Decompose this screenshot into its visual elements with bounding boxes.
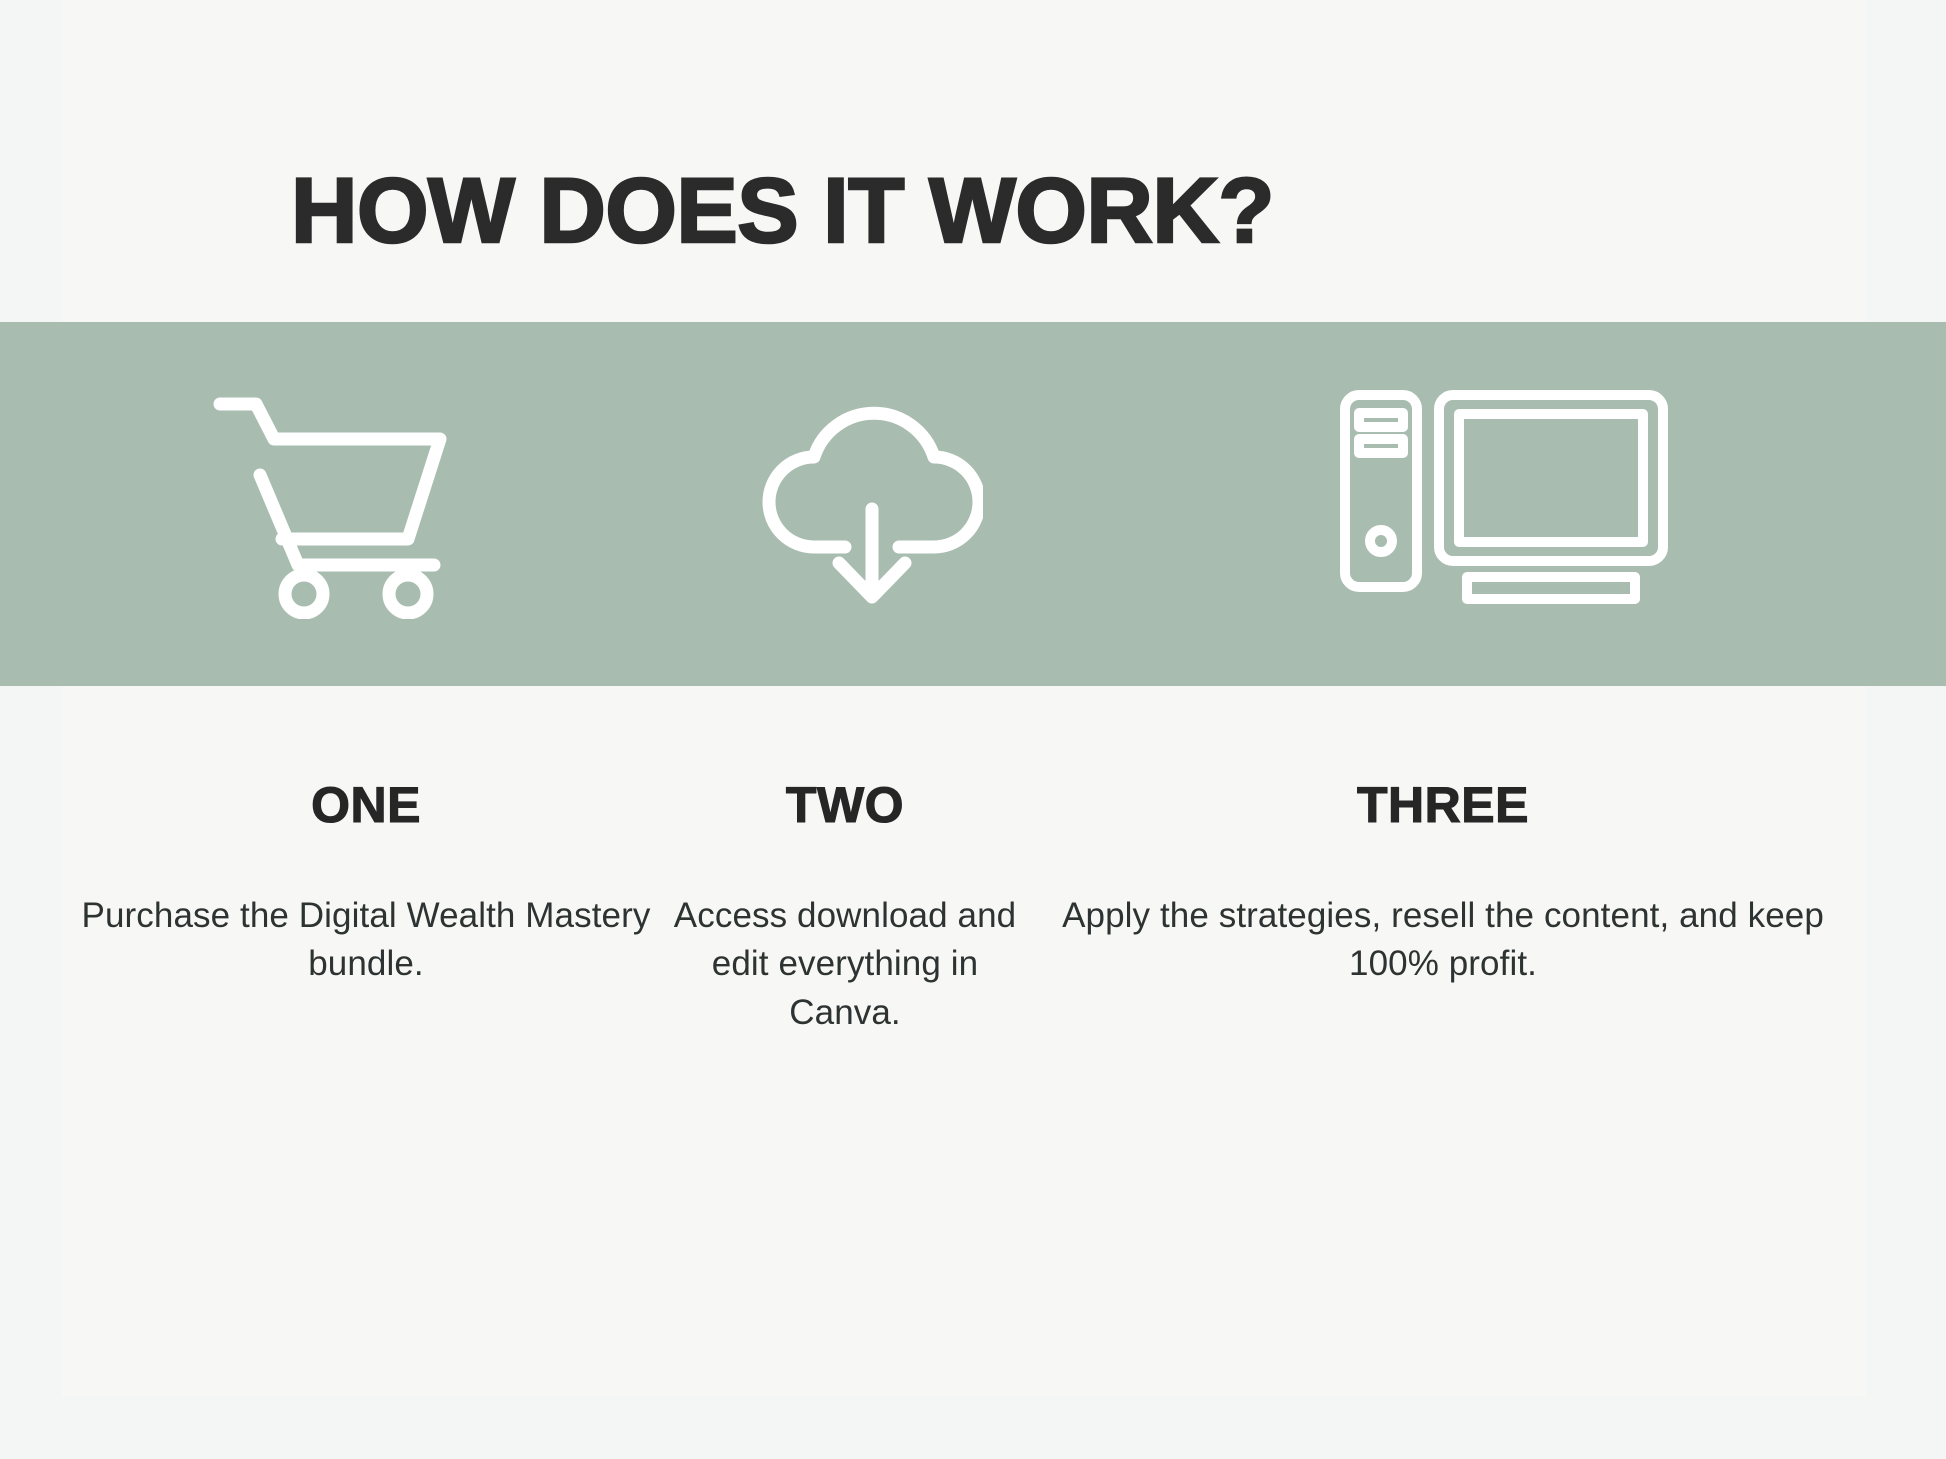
page-title: HOW DOES IT WORK? (0, 165, 1565, 257)
cloud-download-icon (761, 397, 983, 612)
step-one-body: Purchase the Digital Wealth Mastery bund… (62, 892, 670, 989)
steps-row: ONE Purchase the Digital Wealth Mastery … (62, 780, 1866, 1180)
icon-cell-three (1142, 322, 1866, 686)
step-one: ONE Purchase the Digital Wealth Mastery … (62, 780, 670, 989)
icon-cell-two (602, 322, 1142, 686)
step-three: THREE Apply the strategies, resell the c… (1020, 780, 1866, 989)
desktop-computer-icon (1339, 389, 1669, 619)
infographic-slide: HOW DOES IT WORK? (0, 0, 1946, 1459)
step-two: TWO Access download and edit everything … (670, 780, 1020, 1037)
step-three-heading: THREE (1020, 780, 1866, 830)
shopping-cart-icon (212, 389, 452, 619)
step-two-body: Access download and edit everything in C… (670, 892, 1020, 1037)
step-two-heading: TWO (670, 780, 1020, 830)
icon-band (0, 322, 1946, 686)
step-one-heading: ONE (62, 780, 670, 830)
icon-cell-one (62, 322, 602, 686)
step-three-body: Apply the strategies, resell the content… (1020, 892, 1866, 989)
